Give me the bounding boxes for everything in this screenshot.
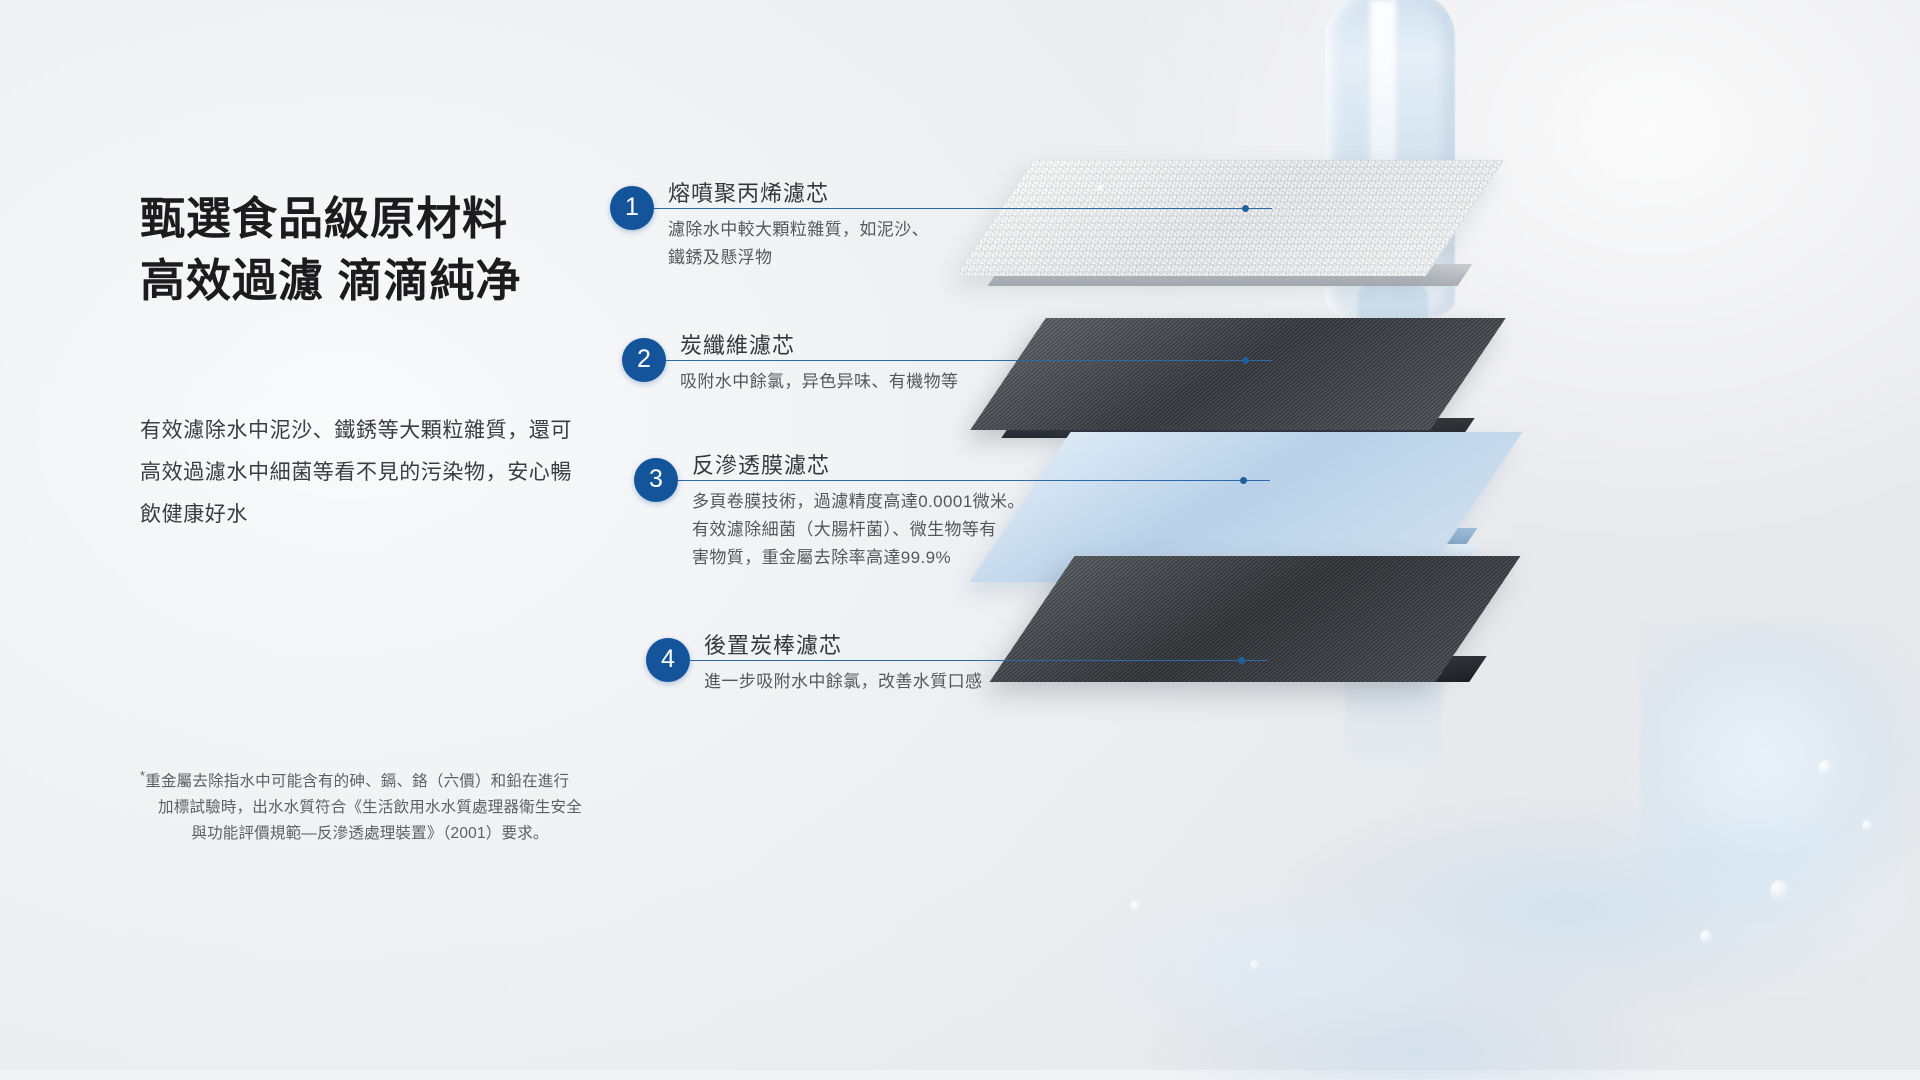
plate-edge	[1001, 418, 1474, 438]
footnote-line-2: 加標試驗時，出水水質符合《生活飲用水水質處理器衛生安全	[140, 795, 600, 821]
callout-desc-1-line-2: 鐵銹及懸浮物	[668, 244, 929, 272]
plate-edge-lower	[1013, 544, 1478, 564]
callout-desc-3: 多頁卷膜技術，過濾精度高達0.0001微米。 有效濾除細菌（大腸杆菌）、微生物等…	[692, 488, 1025, 572]
water-stream-segment-3	[1345, 590, 1441, 770]
footnote-line-3: 與功能評價規範—反滲透處理裝置》（2001）要求。	[140, 821, 600, 847]
ro-membrane-plate	[1020, 432, 1472, 582]
water-splash-bottom	[1010, 700, 1910, 1080]
melt-blown-pp-plate	[995, 160, 1465, 276]
plate-edge	[988, 264, 1473, 286]
water-stream-highlight	[1370, 0, 1396, 300]
callout-desc-2-line-1: 吸附水中餘氯，异色异味、有機物等	[680, 368, 958, 396]
intro-paragraph: 有效濾除水中泥沙、鐵銹等大顆粒雜質，還可高效過濾水中細菌等看不見的污染物，安心暢…	[140, 410, 590, 536]
plate-surface	[969, 432, 1522, 582]
leader-endpoint-1	[1242, 205, 1249, 212]
leader-endpoint-4	[1238, 657, 1245, 664]
callout-badge-1: 1	[610, 186, 654, 230]
water-splash-right	[1640, 620, 1920, 920]
footnote-line-1: *重金屬去除指水中可能含有的砷、鎘、鉻（六價）和鉛在進行	[140, 763, 600, 795]
water-stream-segment-2	[1352, 430, 1436, 630]
plate-surface	[990, 556, 1521, 682]
left-text-column: 甄選食品級原材料 高效過濾 滴滴純净 有效濾除水中泥沙、鐵銹等大顆粒雜質，還可高…	[140, 0, 610, 1070]
plate-edge	[1015, 528, 1478, 544]
water-stream-top	[1325, 0, 1455, 320]
callout-desc-3-line-1: 多頁卷膜技術，過濾精度高達0.0001微米。	[692, 488, 1025, 516]
callout-badge-2: 2	[622, 338, 666, 382]
callout-title-3: 反滲透膜濾芯	[692, 448, 830, 480]
leader-line-1	[654, 208, 1272, 209]
footnote-line-1-text: 重金屬去除指水中可能含有的砷、鎘、鉻（六價）和鉛在進行	[145, 773, 569, 790]
callout-desc-1: 濾除水中較大顆粒雜質，如泥沙、 鐵銹及懸浮物	[668, 216, 929, 272]
water-droplet	[1250, 960, 1259, 972]
carbon-fibre-plate	[1008, 318, 1468, 430]
water-droplet	[1770, 880, 1788, 902]
callout-desc-2: 吸附水中餘氯，异色异味、有機物等	[680, 368, 958, 396]
callout-title-4: 後置炭棒濾芯	[704, 628, 842, 660]
leader-line-3	[678, 480, 1270, 481]
footnote-block: *重金屬去除指水中可能含有的砷、鎘、鉻（六價）和鉛在進行 加標試驗時，出水水質符…	[140, 763, 600, 847]
water-droplet	[1818, 760, 1832, 778]
water-droplet	[1862, 820, 1872, 833]
plate-surface	[956, 160, 1504, 276]
leader-endpoint-2	[1242, 357, 1249, 364]
water-droplet	[1700, 930, 1712, 945]
water-stream-segment-1	[1358, 280, 1428, 460]
callout-desc-1-line-1: 濾除水中較大顆粒雜質，如泥沙、	[668, 216, 929, 244]
leader-line-4	[690, 660, 1268, 661]
post-carbon-rod-plate	[1032, 556, 1478, 682]
leader-endpoint-3	[1240, 477, 1247, 484]
callout-desc-3-line-3: 害物質，重金屬去除率高達99.9%	[692, 544, 1025, 572]
headline-line-1: 甄選食品級原材料	[140, 188, 508, 250]
callout-badge-4: 4	[646, 638, 690, 682]
callout-title-1: 熔噴聚丙烯濾芯	[668, 176, 829, 208]
leader-line-2	[666, 360, 1272, 361]
headline-line-2: 高效過濾 滴滴純净	[140, 250, 522, 312]
callout-desc-3-line-2: 有效濾除細菌（大腸杆菌）、微生物等有	[692, 516, 1025, 544]
callout-desc-4-line-1: 進一步吸附水中餘氯，改善水質口感	[704, 668, 982, 696]
water-droplet	[1130, 900, 1141, 914]
infographic-canvas: 甄選食品級原材料 高效過濾 滴滴純净 有效濾除水中泥沙、鐵銹等大顆粒雜質，還可高…	[0, 0, 1920, 1070]
filter-exploded-diagram: 1 熔噴聚丙烯濾芯 濾除水中較大顆粒雜質，如泥沙、 鐵銹及懸浮物 2 炭纖維濾芯…	[610, 0, 1920, 1070]
callout-desc-4: 進一步吸附水中餘氯，改善水質口感	[704, 668, 982, 696]
callout-badge-3: 3	[634, 458, 678, 502]
plate-surface	[970, 318, 1506, 430]
callout-title-2: 炭纖維濾芯	[680, 328, 795, 360]
